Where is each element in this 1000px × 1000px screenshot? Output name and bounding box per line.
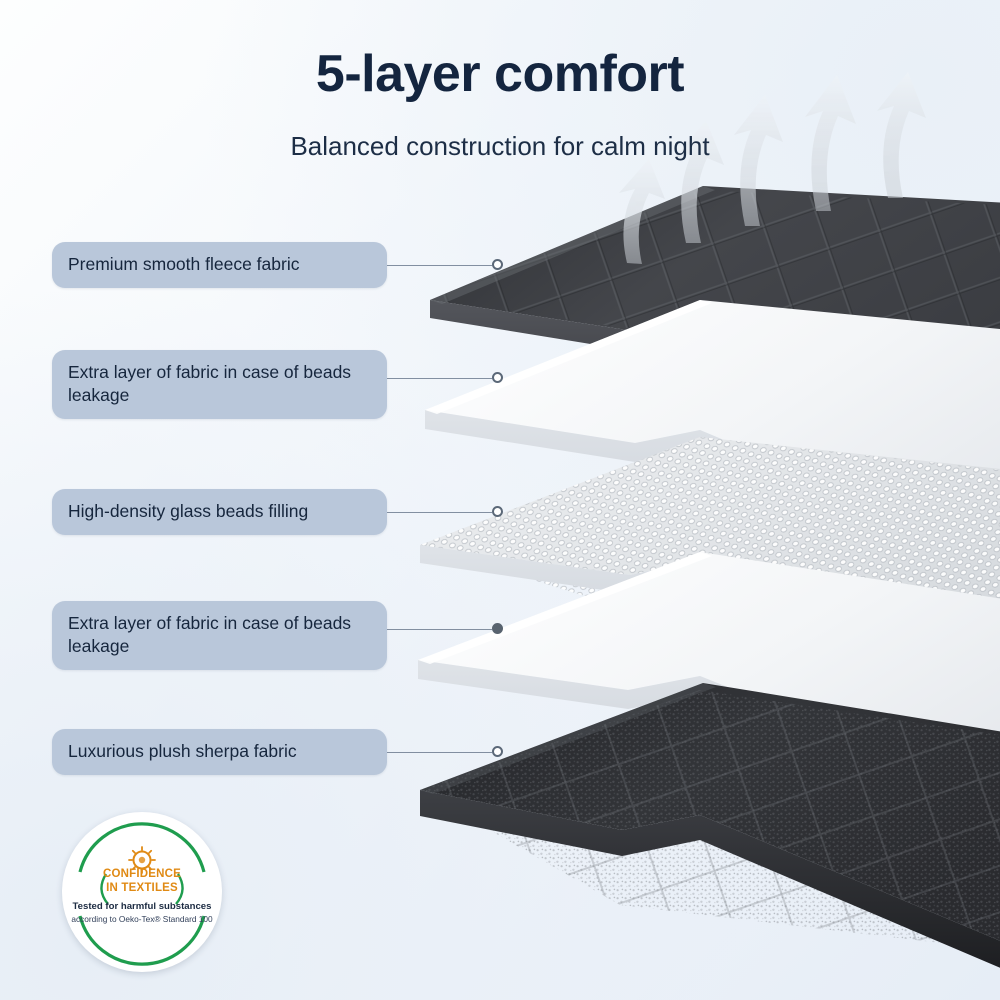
callout-dot-icon-4 xyxy=(492,623,503,634)
badge-line-2: IN TEXTILES xyxy=(62,882,222,894)
badge-line-4: according to Oeko-Tex® Standard 100 xyxy=(62,914,222,924)
callout-leader-5 xyxy=(387,752,492,753)
callout-layer-2: Extra layer of fabric in case of beads l… xyxy=(52,350,387,419)
callout-dot-icon-2 xyxy=(492,372,503,383)
callout-leader-1 xyxy=(387,265,492,266)
badge-line-1: CONFIDENCE xyxy=(62,868,222,880)
page-subtitle: Balanced construction for calm night xyxy=(0,131,1000,162)
callout-leader-2 xyxy=(387,378,492,379)
infographic-canvas: 5-layer comfort Balanced construction fo… xyxy=(0,0,1000,1000)
callout-layer-1: Premium smooth fleece fabric xyxy=(52,242,387,288)
page-title: 5-layer comfort xyxy=(0,44,1000,104)
callout-dot-icon-3 xyxy=(492,506,503,517)
callout-leader-3 xyxy=(387,512,492,513)
callout-leader-4 xyxy=(387,629,492,630)
oeko-tex-certification-icon: CONFIDENCE IN TEXTILES Tested for harmfu… xyxy=(62,812,222,972)
callout-dot-icon-1 xyxy=(492,259,503,270)
callout-layer-3: High-density glass beads filling xyxy=(52,489,387,535)
callout-layer-5: Luxurious plush sherpa fabric xyxy=(52,729,387,775)
callout-layer-4: Extra layer of fabric in case of beads l… xyxy=(52,601,387,670)
badge-line-3: Tested for harmful substances xyxy=(62,901,222,912)
callout-dot-icon-5 xyxy=(492,746,503,757)
